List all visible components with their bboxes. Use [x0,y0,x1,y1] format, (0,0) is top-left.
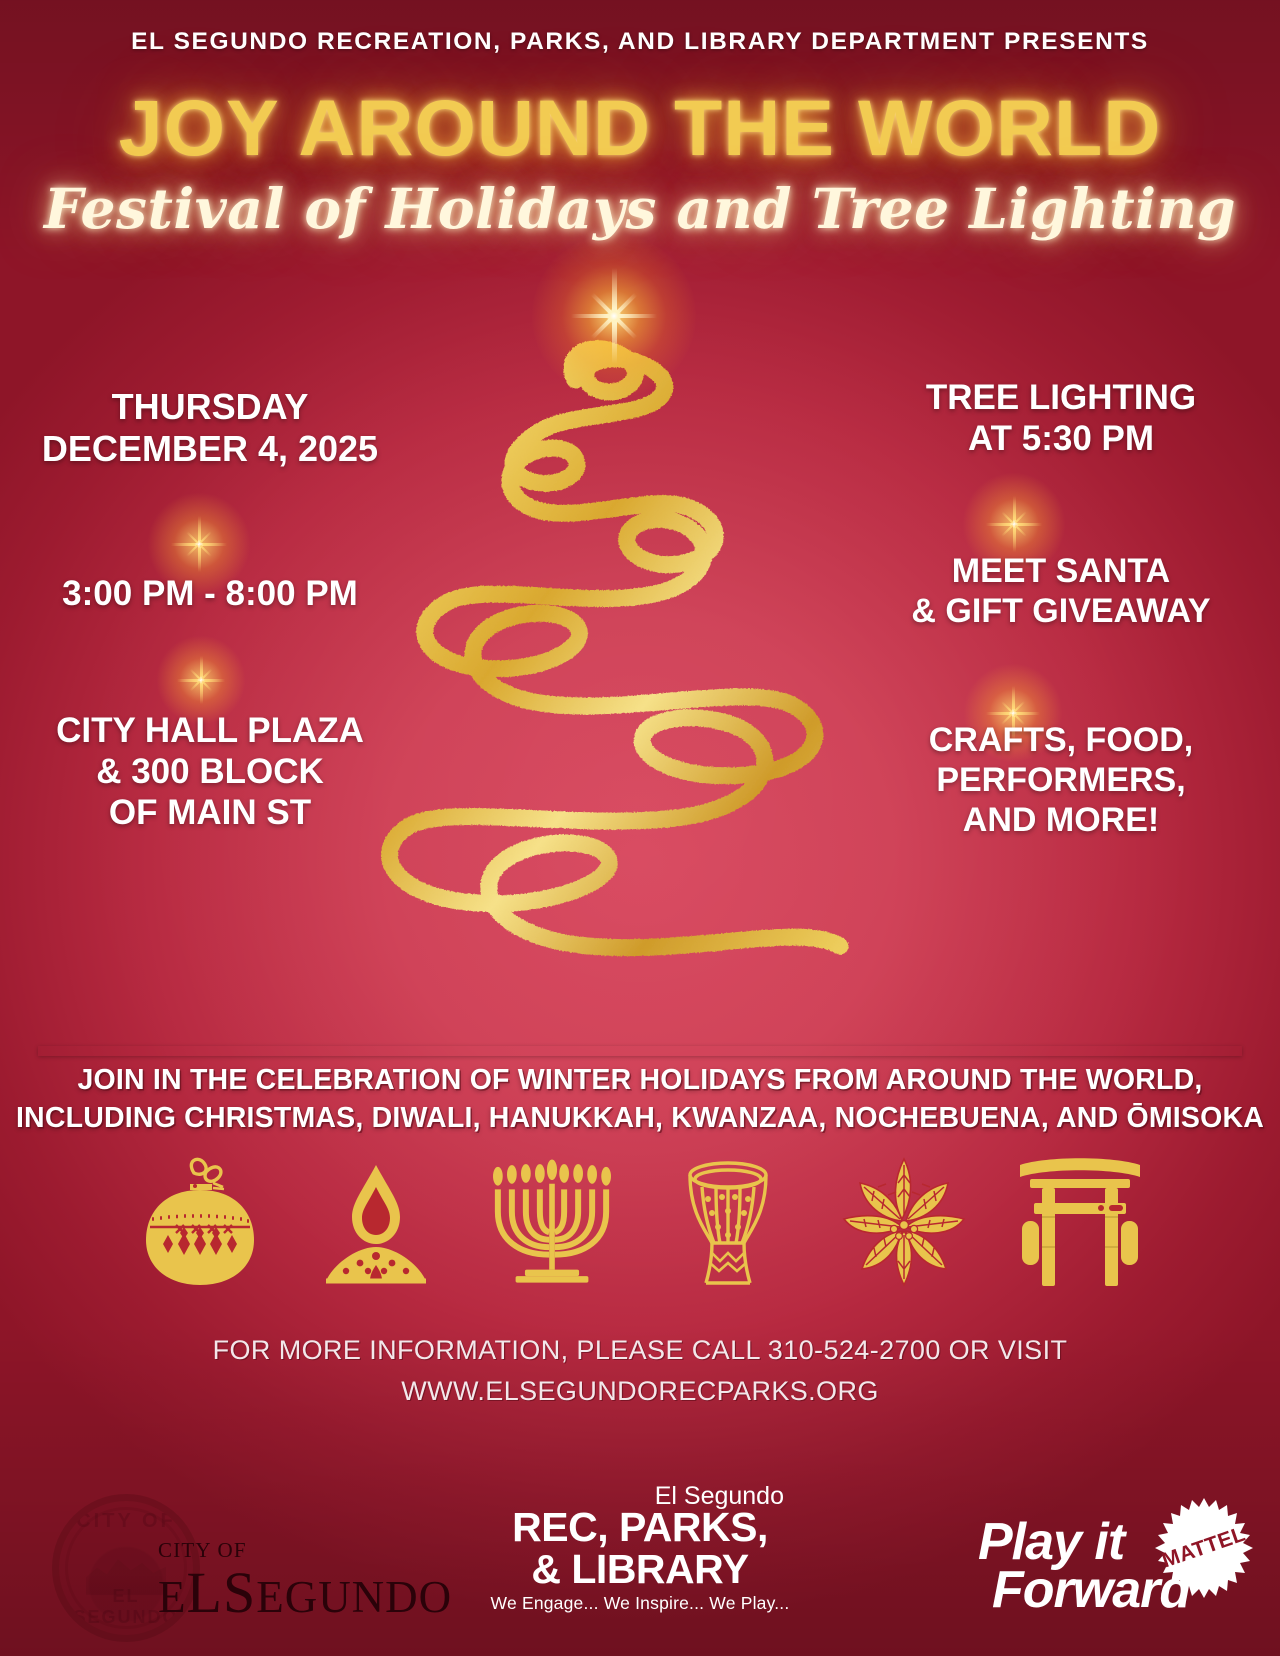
santa-line-2: & GIFT GIVEAWAY [864,592,1258,632]
date-line-1: THURSDAY [14,386,406,428]
location-line-1: CITY HALL PLAZA [14,711,406,752]
contact-line-1: FOR MORE INFORMATION, PLEASE CALL 310-52… [0,1330,1280,1371]
celebration-line-2: INCLUDING CHRISTMAS, DIWALI, HANUKKAH, K… [0,1100,1280,1138]
celebration-line-1: JOIN IN THE CELEBRATION OF WINTER HOLIDA… [0,1062,1280,1100]
tree-lighting-block: TREE LIGHTING AT 5:30 PM [864,378,1258,460]
contact-info: FOR MORE INFORMATION, PLEASE CALL 310-52… [0,1330,1280,1412]
city-logo-name: ELSEGUNDO [158,1559,452,1626]
djembe-drum-icon [658,1152,798,1287]
location-line-3: OF MAIN ST [14,793,406,834]
date-block: THURSDAY DECEMBER 4, 2025 [14,386,406,470]
christmas-ornament-icon [130,1152,270,1287]
star-topper-icon [566,268,662,364]
holiday-icon-row [0,1152,1280,1287]
rpl-tagline: We Engage... We Inspire... We Play... [490,1593,790,1614]
city-of-el-segundo-logo: CITY OF EL SEGUNDO CITY OF ELSEGUNDO [52,1490,352,1640]
poinsettia-icon [834,1152,974,1287]
extras-block: CRAFTS, FOOD, PERFORMERS, AND MORE! [864,721,1258,840]
santa-line-1: MEET SANTA [864,552,1258,592]
celebration-text: JOIN IN THE CELEBRATION OF WINTER HOLIDA… [0,1062,1280,1138]
footer-logos: CITY OF EL SEGUNDO CITY OF ELSEGUNDO El … [0,1460,1280,1656]
mattel-badge: MATTEL [1152,1496,1256,1600]
gold-divider [38,1046,1242,1056]
location-line-2: & 300 BLOCK [14,752,406,793]
right-info-column: TREE LIGHTING AT 5:30 PM MEET SANTA & GI… [864,378,1258,841]
presents-line: EL SEGUNDO RECREATION, PARKS, AND LIBRAR… [0,28,1280,56]
event-flyer: EL SEGUNDO RECREATION, PARKS, AND LIBRAR… [0,0,1280,1656]
event-time: 3:00 PM - 8:00 PM [14,574,406,615]
extras-line-3: AND MORE! [864,801,1258,841]
date-line-2: DECEMBER 4, 2025 [14,428,406,470]
torii-gate-icon [1010,1152,1150,1287]
rpl-line-2: & LIBRARY [490,1549,790,1591]
page-title: JOY AROUND THE WORLD [0,82,1280,174]
extras-line-2: PERFORMERS, [864,761,1258,801]
page-subtitle: Festival of Holidays and Tree Lighting [0,176,1280,241]
extras-line-1: CRAFTS, FOOD, [864,721,1258,761]
santa-block: MEET SANTA & GIFT GIVEAWAY [864,552,1258,632]
tree-lighting-line-1: TREE LIGHTING [864,378,1258,419]
rpl-line-1: REC, PARKS, [490,1507,790,1549]
time-block: 3:00 PM - 8:00 PM [14,574,406,615]
tree-lighting-line-2: AT 5:30 PM [864,419,1258,460]
rec-parks-library-logo: El Segundo REC, PARKS, & LIBRARY We Enga… [490,1482,790,1614]
play-it-forward-logo: Play it Forward MATTEL [962,1490,1262,1640]
website-line[interactable]: WWW.ELSEGUNDORECPARKS.ORG [0,1371,1280,1412]
location-block: CITY HALL PLAZA & 300 BLOCK OF MAIN ST [14,711,406,834]
left-info-column: THURSDAY DECEMBER 4, 2025 3:00 PM - 8:00… [14,386,406,834]
menorah-icon [482,1152,622,1287]
seal-top-text: CITY OF [59,1510,193,1533]
diya-lamp-icon [306,1152,446,1287]
